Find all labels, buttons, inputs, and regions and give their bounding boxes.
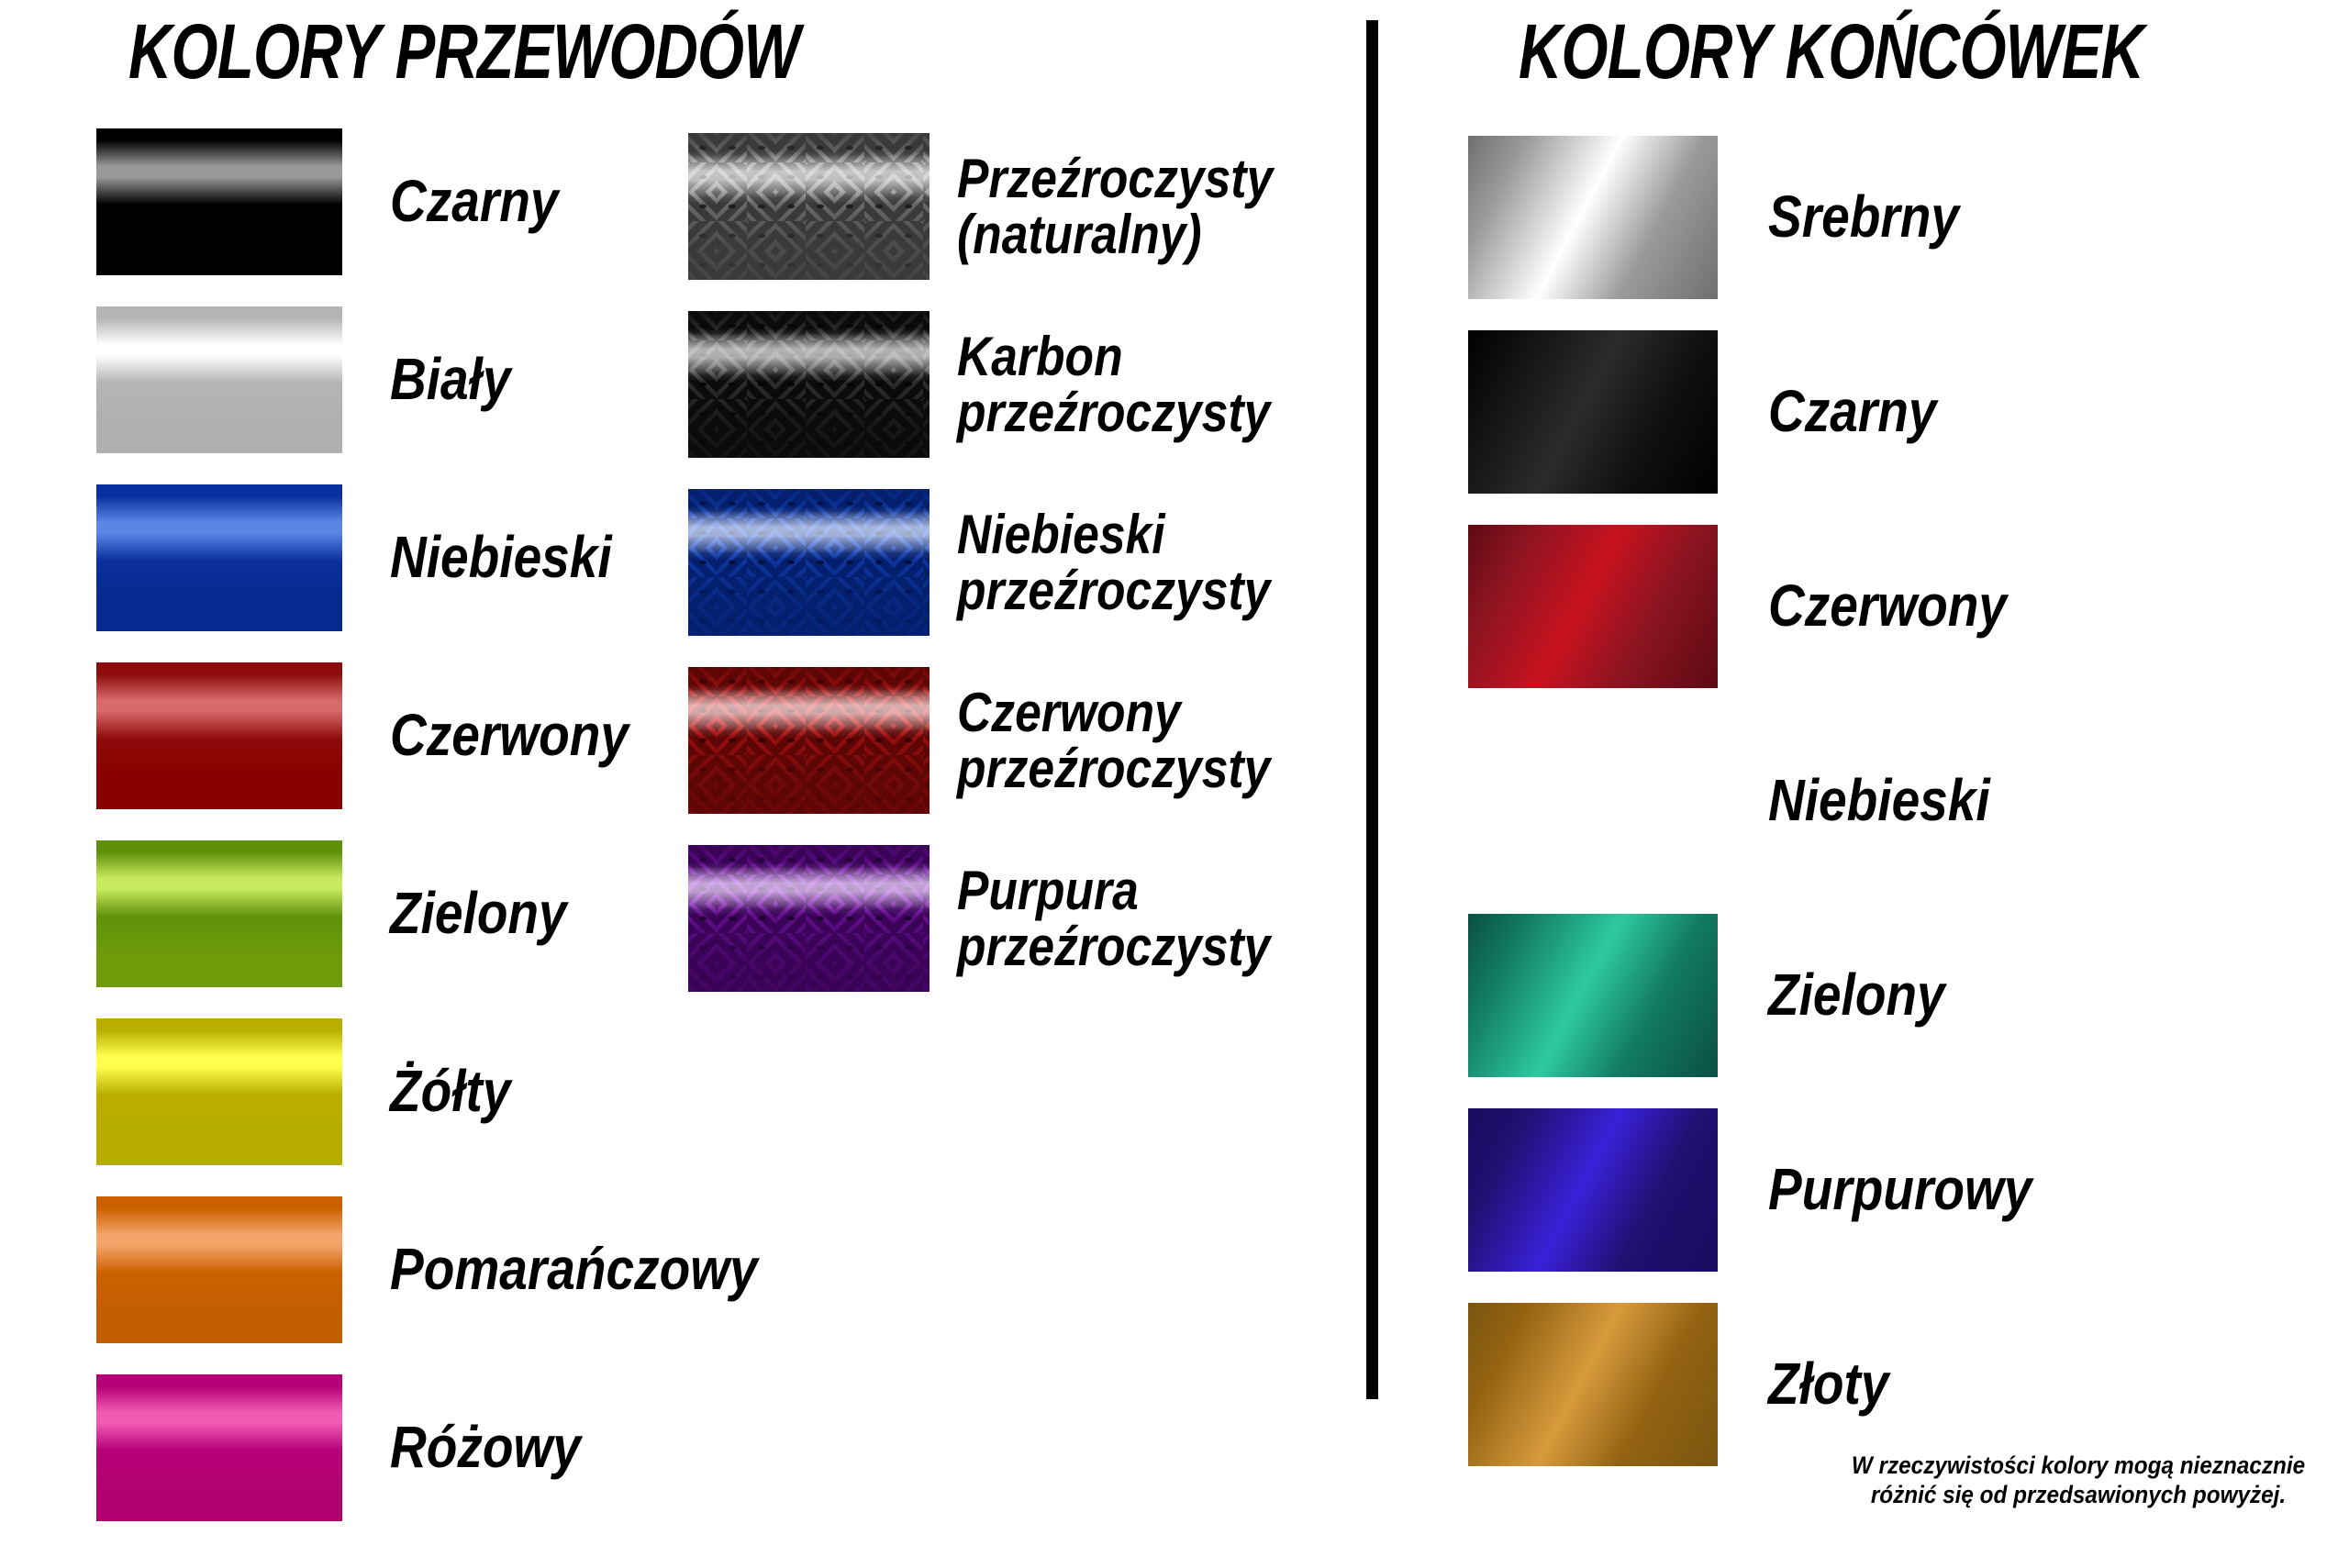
wire-color-swatch-5[interactable] — [96, 1018, 342, 1165]
braid-texture — [688, 489, 930, 636]
page-title-wire-colors: KOLORY PRZEWODÓW — [128, 7, 799, 96]
wire-color-row: Różowy — [96, 1374, 818, 1521]
wire-color-label: Różowy — [390, 1418, 581, 1477]
braid-texture — [688, 667, 930, 814]
end-color-row: Purpurowy — [1468, 1108, 2075, 1272]
end-color-label: Złoty — [1768, 1354, 1888, 1414]
wire-color-swatch-4[interactable] — [96, 840, 342, 987]
end-color-swatch-4[interactable] — [1468, 914, 1718, 1077]
wire-color-swatch-0[interactable] — [96, 128, 342, 275]
end-color-swatch-5[interactable] — [1468, 1108, 1718, 1272]
wire-braided-label: Czerwony przeźroczysty — [957, 684, 1270, 796]
wire-braided-row: Przeźroczysty (naturalny) — [688, 133, 1324, 280]
end-color-row: Czarny — [1468, 330, 2075, 494]
braid-texture — [688, 845, 930, 992]
wire-braided-swatch-0[interactable] — [688, 133, 930, 280]
wire-braided-row: Niebieski przeźroczysty — [688, 489, 1324, 636]
end-color-swatch-1[interactable] — [1468, 330, 1718, 494]
end-color-label: Czerwony — [1768, 576, 2007, 636]
wire-colors-braided-column: Przeźroczysty (naturalny)Karbon przeźroc… — [688, 133, 1324, 1023]
end-color-label: Srebrny — [1768, 187, 1959, 247]
end-color-row: Czerwony — [1468, 525, 2075, 688]
wire-color-row: Pomarańczowy — [96, 1196, 818, 1343]
page-title-end-colors: KOLORY KOŃCÓWEK — [1519, 7, 2143, 96]
end-color-row: Zielony — [1468, 914, 2075, 1077]
end-colors-column: SrebrnyCzarnyCzerwonyNiebieskiZielonyPur… — [1468, 136, 2075, 1497]
end-color-swatch-6[interactable] — [1468, 1303, 1718, 1466]
wire-color-label: Niebieski — [390, 528, 612, 587]
wire-braided-row: Purpura przeźroczysty — [688, 845, 1324, 992]
wire-color-row: Żółty — [96, 1018, 818, 1165]
braid-texture — [688, 311, 930, 458]
wire-color-label: Zielony — [390, 884, 567, 943]
end-color-label: Czarny — [1768, 382, 1937, 441]
end-color-swatch-0[interactable] — [1468, 136, 1718, 299]
end-color-row: Złoty — [1468, 1303, 2075, 1466]
wire-braided-label: Purpura przeźroczysty — [957, 862, 1270, 974]
end-color-label: Zielony — [1768, 965, 1945, 1025]
end-color-row: Niebieski — [1468, 719, 2075, 883]
vertical-divider — [1366, 20, 1378, 1399]
wire-braided-label: Niebieski przeźroczysty — [957, 506, 1270, 618]
wire-braided-swatch-3[interactable] — [688, 667, 930, 814]
end-color-swatch-3[interactable] — [1468, 719, 1718, 883]
wire-braided-label: Karbon przeźroczysty — [957, 328, 1270, 440]
wire-color-label: Czerwony — [390, 706, 629, 765]
disclaimer-note: W rzeczywistości kolory mogą nieznacznie… — [1847, 1451, 2310, 1510]
wire-color-label: Pomarańczowy — [390, 1240, 758, 1299]
wire-braided-row: Czerwony przeźroczysty — [688, 667, 1324, 814]
wire-color-swatch-7[interactable] — [96, 1374, 342, 1521]
wire-color-label: Żółty — [390, 1062, 510, 1121]
braid-texture — [688, 133, 930, 280]
wire-braided-swatch-1[interactable] — [688, 311, 930, 458]
wire-braided-row: Karbon przeźroczysty — [688, 311, 1324, 458]
wire-color-swatch-6[interactable] — [96, 1196, 342, 1343]
wire-color-swatch-3[interactable] — [96, 662, 342, 809]
wire-color-swatch-2[interactable] — [96, 484, 342, 631]
end-color-swatch-2[interactable] — [1468, 525, 1718, 688]
wire-color-label: Biały — [390, 350, 511, 409]
wire-braided-swatch-4[interactable] — [688, 845, 930, 992]
wire-color-label: Czarny — [390, 172, 559, 231]
end-color-label: Purpurowy — [1768, 1160, 2032, 1219]
wire-color-swatch-1[interactable] — [96, 306, 342, 453]
color-chart-sheet: KOLORY PRZEWODÓW KOLORY KOŃCÓWEK CzarnyB… — [0, 0, 2349, 1568]
wire-braided-label: Przeźroczysty (naturalny) — [957, 150, 1273, 262]
wire-braided-swatch-2[interactable] — [688, 489, 930, 636]
end-color-row: Srebrny — [1468, 136, 2075, 299]
end-color-label: Niebieski — [1768, 771, 1990, 830]
